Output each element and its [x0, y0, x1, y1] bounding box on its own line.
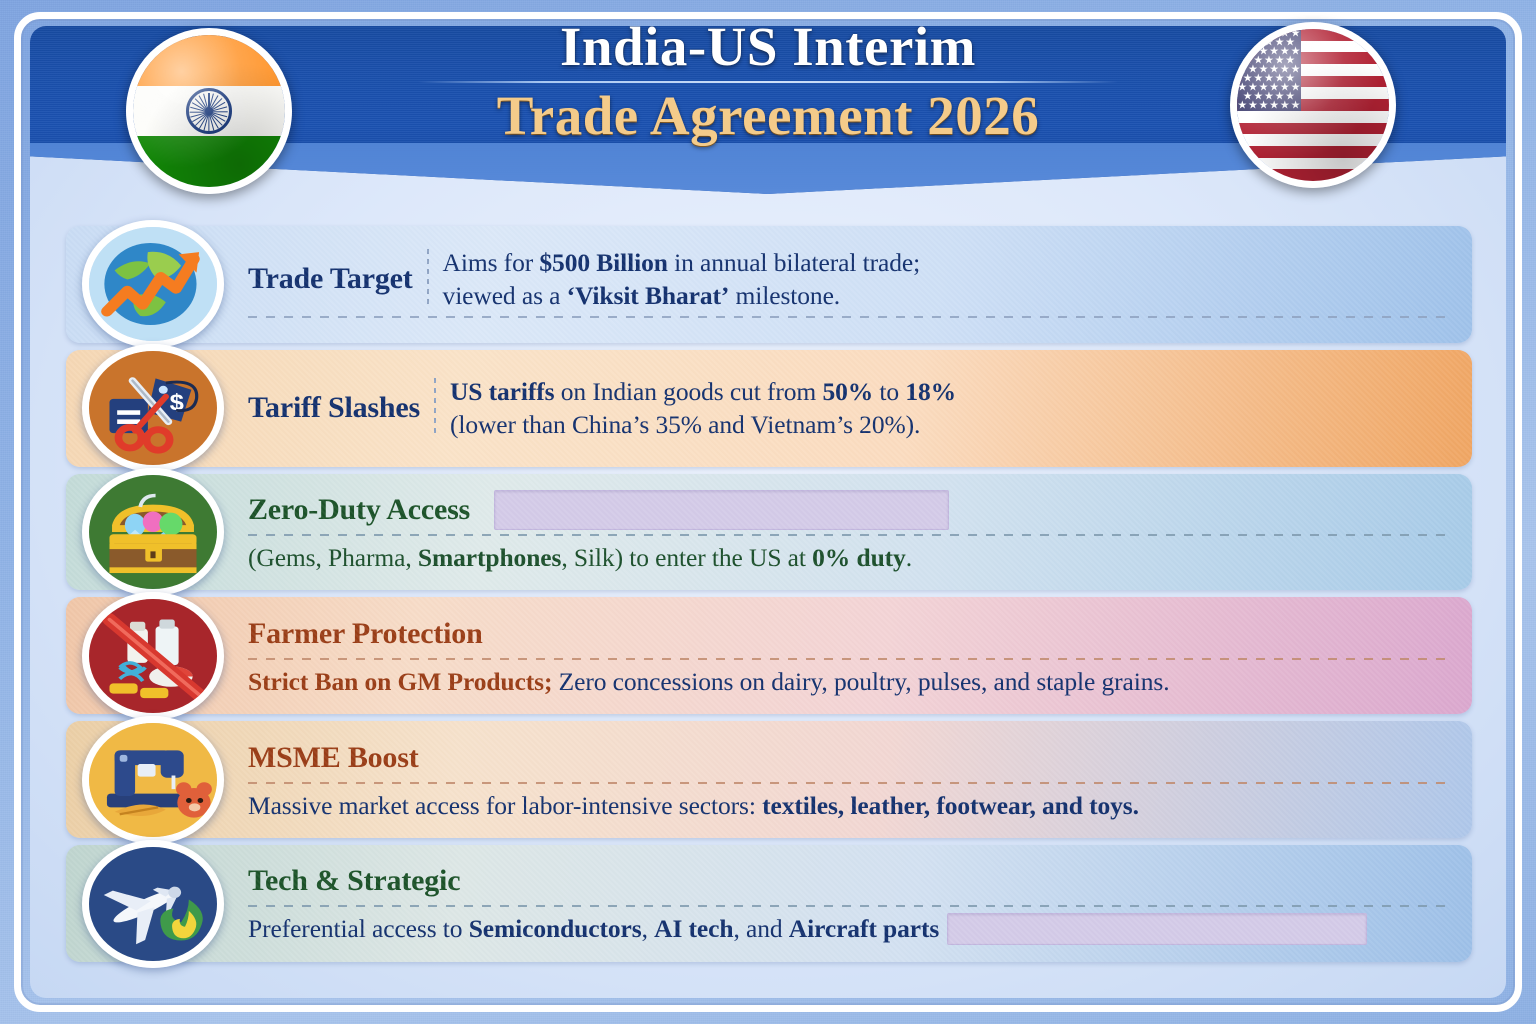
highlight-zero-percent-duty: 0% duty: [812, 543, 906, 572]
text-fragment: ,: [642, 914, 655, 943]
scissors-price-tag-icon: $: [82, 344, 224, 472]
row-underline: [248, 534, 1454, 536]
text-fragment: milestone.: [729, 281, 840, 310]
highlight-us-tariffs: US tariffs: [450, 377, 555, 406]
row-divider: [434, 378, 436, 438]
row-label-tech-strategic: Tech & Strategic: [248, 864, 460, 898]
chakra-spokes: [189, 91, 229, 131]
row-body-msme-boost: Massive market access for labor-intensiv…: [248, 789, 1454, 822]
row-label-tariff-slashes: Tariff Slashes: [248, 391, 420, 425]
row-body-tech-strategic: Preferential access to Semiconductors, A…: [248, 912, 939, 945]
redaction-bar-zero-duty: [494, 490, 949, 530]
row-body-line: Preferential access to Semiconductors, A…: [248, 912, 1454, 945]
row-header: Farmer Protection: [248, 614, 1454, 654]
highlight-ai-tech: AI tech: [654, 914, 733, 943]
sewing-machine-toys-icon: [82, 716, 224, 844]
row-divider: [427, 249, 429, 309]
row-label-farmer-protection: Farmer Protection: [248, 617, 483, 651]
row-header: Zero-Duty Access: [248, 490, 1454, 530]
row-header: Tariff Slashes US tariffs on Indian good…: [248, 375, 1454, 441]
row-header: Trade Target Aims for $500 Billion in an…: [248, 246, 1454, 312]
text-fragment: viewed as a: [443, 281, 567, 310]
usa-flag-badge: ★★★★★★★★★★★★★★★★★★★★★★★★★★★★★★★★★★★★★★★★…: [1230, 22, 1396, 188]
highlight-semiconductors: Semiconductors: [469, 914, 642, 943]
globe-growth-arrow-icon: [82, 220, 224, 348]
row-tariff-slashes: $ Tariff Slashes US tariffs on Indian go…: [66, 350, 1472, 467]
row-farmer-protection: Farmer Protection Strict Ban on GM Produ…: [66, 597, 1472, 714]
feature-rows: Trade Target Aims for $500 Billion in an…: [66, 226, 1472, 962]
row-zero-duty-access: Zero-Duty Access (Gems, Pharma, Smartpho…: [66, 474, 1472, 591]
infographic-poster: India-US Interim Trade Agreement 2026: [0, 0, 1536, 1024]
svg-text:$: $: [170, 391, 185, 416]
row-underline: [248, 905, 1454, 907]
row-label-msme-boost: MSME Boost: [248, 741, 419, 775]
text-fragment-comparison: (lower than China’s 35% and Vietnam’s 20…: [450, 410, 920, 439]
flag-stripe-green: [133, 136, 285, 187]
aircraft-energy-icon: [82, 840, 224, 968]
highlight-18-percent: 18%: [905, 377, 956, 406]
row-underline: [248, 782, 1454, 784]
text-fragment: Aims for: [443, 248, 540, 277]
text-fragment: Massive market access for labor-intensiv…: [248, 791, 762, 820]
highlight-50-percent: 50%: [822, 377, 873, 406]
highlight-viksit-bharat: ‘Viksit Bharat’: [567, 281, 730, 310]
highlight-500-billion: $500 Billion: [539, 248, 667, 277]
text-fragment: Preferential access to: [248, 914, 469, 943]
treasure-chest-gems-icon: [82, 468, 224, 596]
highlight-gm-ban: Strict Ban on GM Products;: [248, 667, 552, 696]
row-body-farmer-protection: Strict Ban on GM Products; Zero concessi…: [248, 665, 1454, 698]
row-msme-boost: MSME Boost Massive market access for lab…: [66, 721, 1472, 838]
text-fragment: (Gems, Pharma,: [248, 543, 418, 572]
row-underline: [248, 316, 1454, 318]
india-flag-badge: [126, 28, 292, 194]
ashoka-chakra-icon: [186, 88, 232, 134]
highlight-aircraft-parts: Aircraft parts: [789, 914, 939, 943]
text-fragment: Zero concessions on dairy, poultry, puls…: [552, 667, 1169, 696]
highlight-sectors: textiles, leather, footwear, and toys.: [762, 791, 1139, 820]
row-tech-strategic: Tech & Strategic Preferential access to …: [66, 845, 1472, 962]
text-fragment: to: [873, 377, 905, 406]
text-fragment: .: [906, 543, 912, 572]
text-fragment: , and: [733, 914, 788, 943]
no-gm-products-icon: [82, 592, 224, 720]
row-header: Tech & Strategic: [248, 861, 1454, 901]
row-body-zero-duty-access: (Gems, Pharma, Smartphones, Silk) to ent…: [248, 541, 1454, 574]
flag-stripe-saffron: [133, 35, 285, 86]
row-header: MSME Boost: [248, 738, 1454, 778]
title-divider: [418, 81, 1118, 83]
flag-canton: ★★★★★★★★★★★★★★★★★★★★★★★★★★★★★★★★★★★★★★★★…: [1237, 29, 1301, 111]
row-body-tariff-slashes: US tariffs on Indian goods cut from 50% …: [450, 375, 956, 441]
row-underline: [248, 658, 1454, 660]
row-trade-target: Trade Target Aims for $500 Billion in an…: [66, 226, 1472, 343]
text-fragment: in annual bilateral trade;: [668, 248, 920, 277]
text-fragment: on Indian goods cut from: [555, 377, 823, 406]
row-label-trade-target: Trade Target: [248, 262, 413, 296]
text-fragment: , Silk) to enter the US at: [561, 543, 812, 572]
row-label-zero-duty-access: Zero-Duty Access: [248, 493, 470, 527]
highlight-smartphones: Smartphones: [418, 543, 561, 572]
redaction-bar-tech-strategic: [947, 913, 1367, 945]
row-body-trade-target: Aims for $500 Billion in annual bilatera…: [443, 246, 921, 312]
